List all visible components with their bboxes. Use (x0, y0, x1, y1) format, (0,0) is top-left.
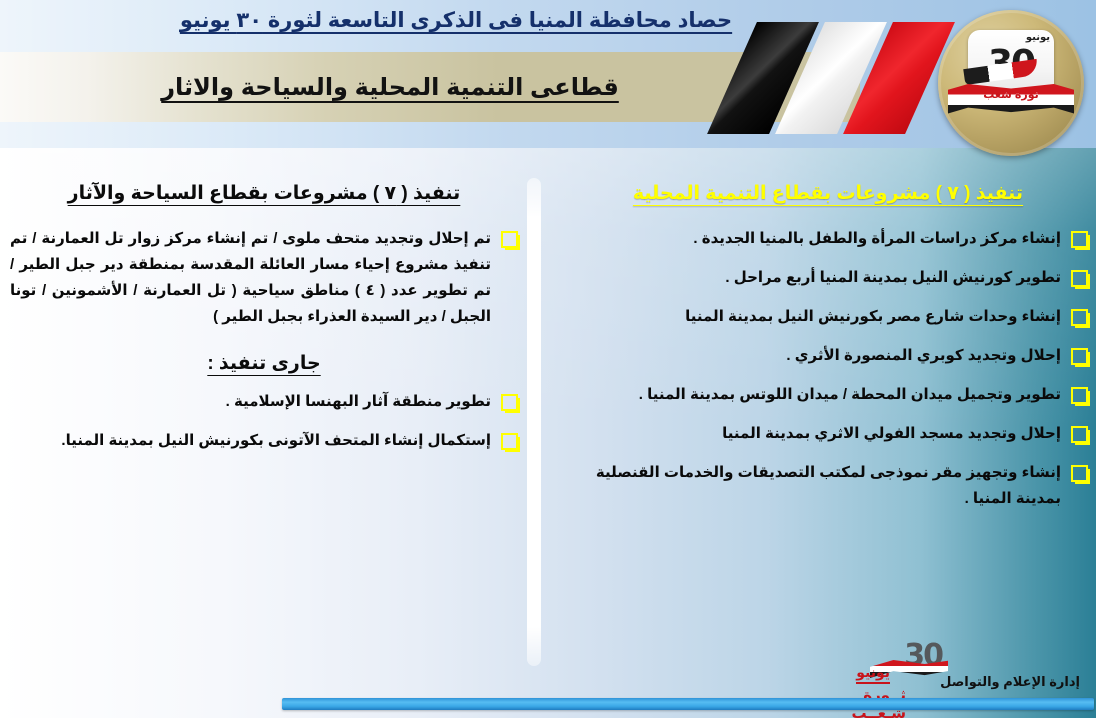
square-bullet-icon (501, 394, 518, 411)
list-item-text: إستكمال إنشاء المتحف الآتونى بكورنيش الن… (10, 428, 491, 454)
footer-accent-bar (282, 698, 1094, 710)
local-development-list: إنشاء مركز دراسات المرأة والطفل بالمنيا … (568, 226, 1088, 512)
local-development-heading: تنفيذ ( ٧ ) مشروعات بقطاع التنمية المحلي… (568, 180, 1088, 208)
revolution-30-june-logo: يونيو 30 ثورة شعب (938, 10, 1084, 156)
page-title: حصاد محافظة المنيا فى الذكرى التاسعة لثو… (174, 8, 738, 33)
square-bullet-icon (1071, 426, 1088, 443)
list-item: تم إحلال وتجديد متحف ملوى / تم إنشاء مرك… (10, 226, 518, 330)
square-bullet-icon (1071, 387, 1088, 404)
list-item-text: إنشاء وحدات شارع مصر بكورنيش النيل بمدين… (568, 304, 1061, 330)
slide-canvas: حصاد محافظة المنيا فى الذكرى التاسعة لثو… (0, 0, 1096, 718)
list-item-text: إنشاء مركز دراسات المرأة والطفل بالمنيا … (568, 226, 1061, 252)
tourism-antiquities-column: تنفيذ ( ٧ ) مشروعات بقطاع السياحة والآثا… (10, 180, 518, 467)
slide-footer: إدارة الإعلام والتواصل 30 يونيو ثــورة ش… (0, 632, 1096, 718)
flag-stripe-red-icon (868, 22, 930, 134)
list-item-text: تطوير وتجميل ميدان المحطة / ميدان اللوتس… (568, 382, 1061, 408)
square-bullet-icon (1071, 231, 1088, 248)
list-item: إنشاء مركز دراسات المرأة والطفل بالمنيا … (568, 226, 1088, 252)
square-bullet-icon (1071, 270, 1088, 287)
local-development-column: تنفيذ ( ٧ ) مشروعات بقطاع التنمية المحلي… (568, 180, 1088, 525)
list-item: إستكمال إنشاء المتحف الآتونى بكورنيش الن… (10, 428, 518, 454)
list-item-text: إحلال وتجديد كوبري المنصورة الأثري . (568, 343, 1061, 369)
tourism-antiquities-heading: تنفيذ ( ٧ ) مشروعات بقطاع السياحة والآثا… (10, 180, 518, 208)
tourism-completed-list: تم إحلال وتجديد متحف ملوى / تم إنشاء مرك… (10, 226, 518, 330)
in-progress-heading: جارى تنفيذ : (10, 352, 518, 375)
logo-month-label: يونيو (1026, 32, 1050, 43)
department-label: إدارة الإعلام والتواصل (940, 674, 1080, 690)
logo-tagline-label: ثورة شعب (938, 88, 1084, 101)
list-item: إنشاء وحدات شارع مصر بكورنيش النيل بمدين… (568, 304, 1088, 330)
square-bullet-icon (1071, 348, 1088, 365)
square-bullet-icon (501, 433, 518, 450)
list-item-text: إنشاء وتجهيز مقر نموذجى لمكتب التصديقات … (568, 460, 1061, 512)
page-subtitle: قطاعى التنمية المحلية والسياحة والاثار (161, 73, 619, 102)
list-item-text: تطوير كورنيش النيل بمدينة المنيا أربع مر… (568, 265, 1061, 291)
list-item: إحلال وتجديد مسجد الفولي الاثري بمدينة ا… (568, 421, 1088, 447)
slide-header: حصاد محافظة المنيا فى الذكرى التاسعة لثو… (0, 0, 1096, 148)
tourism-in-progress-list: تطوير منطقة آثار البهنسا الإسلامية . إست… (10, 389, 518, 454)
list-item: تطوير كورنيش النيل بمدينة المنيا أربع مر… (568, 265, 1088, 291)
footer-logo-month: يونيو (856, 664, 890, 684)
square-bullet-icon (1071, 309, 1088, 326)
list-item: تطوير منطقة آثار البهنسا الإسلامية . (10, 389, 518, 415)
column-divider (527, 178, 541, 666)
list-item-text: تطوير منطقة آثار البهنسا الإسلامية . (10, 389, 491, 415)
list-item-text: تم إحلال وتجديد متحف ملوى / تم إنشاء مرك… (10, 226, 491, 330)
list-item-text: إحلال وتجديد مسجد الفولي الاثري بمدينة ا… (568, 421, 1061, 447)
list-item: إحلال وتجديد كوبري المنصورة الأثري . (568, 343, 1088, 369)
list-item: إنشاء وتجهيز مقر نموذجى لمكتب التصديقات … (568, 460, 1088, 512)
square-bullet-icon (501, 231, 518, 248)
list-item: تطوير وتجميل ميدان المحطة / ميدان اللوتس… (568, 382, 1088, 408)
square-bullet-icon (1071, 465, 1088, 482)
